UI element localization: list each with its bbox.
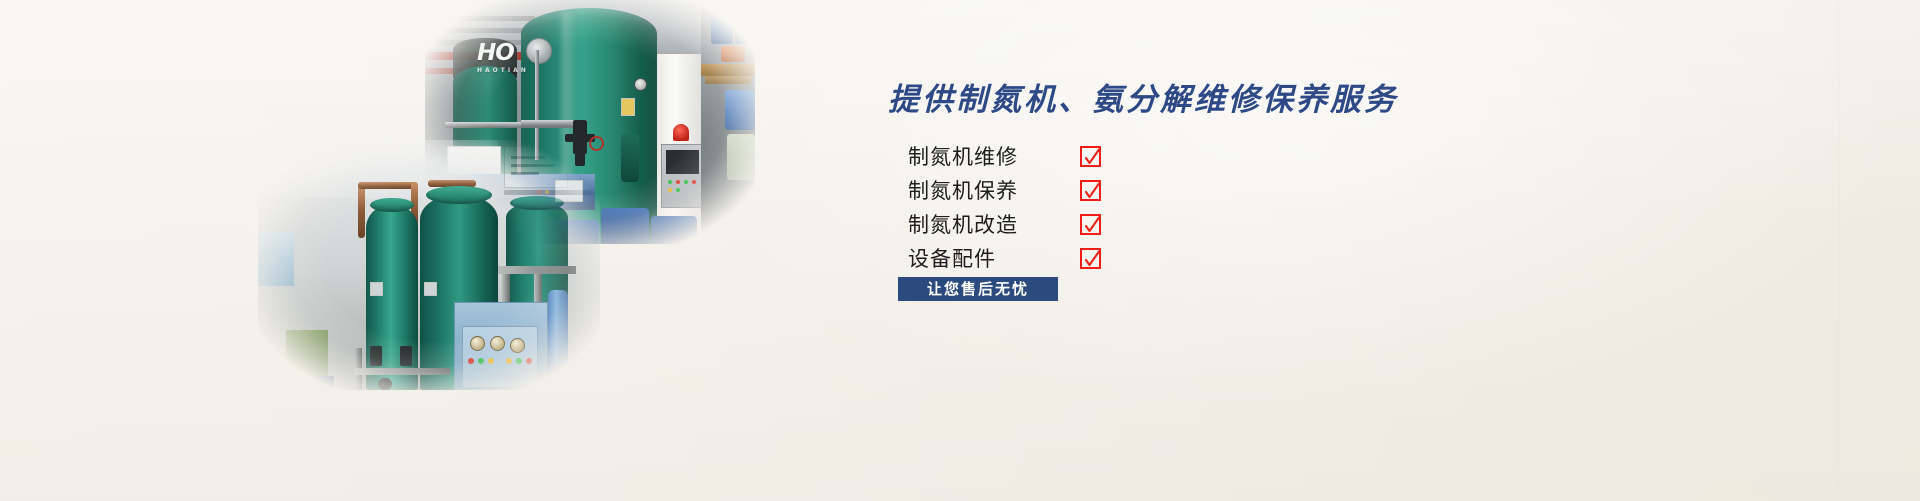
dryer-dial xyxy=(510,338,525,353)
dryer-dial xyxy=(470,336,485,351)
dryer-indicator xyxy=(488,358,494,364)
support-frame xyxy=(354,368,450,375)
service-item[interactable]: 制氮机保养 xyxy=(908,174,1138,206)
panel-led xyxy=(668,188,672,192)
dryer-indicator xyxy=(506,358,512,364)
cta-button-label: 让您售后无忧 xyxy=(927,282,1029,297)
return-pipe xyxy=(358,182,365,238)
service-checkbox[interactable] xyxy=(1080,180,1101,201)
tank-flange xyxy=(526,38,552,64)
background-seam xyxy=(1838,0,1839,501)
panel-led xyxy=(692,180,696,184)
service-item[interactable]: 设备配件 xyxy=(908,242,1138,274)
vessel-lid xyxy=(370,198,414,212)
tank-handle xyxy=(621,134,639,182)
vessel-lid xyxy=(510,196,564,210)
control-screen xyxy=(666,150,699,174)
ceiling-rafter xyxy=(425,16,535,21)
service-item[interactable]: 制氮机改造 xyxy=(908,208,1138,240)
orange-drum xyxy=(721,46,745,62)
cta-button[interactable]: 让您售后无忧 xyxy=(898,277,1058,301)
dryer-front-panel xyxy=(462,326,538,388)
service-label: 设备配件 xyxy=(908,243,1080,273)
service-label: 制氮机改造 xyxy=(908,209,1080,239)
bottom-valve xyxy=(400,346,412,366)
wall-placard xyxy=(504,146,568,188)
service-item[interactable]: 制氮机维修 xyxy=(908,140,1138,172)
check-mark-icon xyxy=(1083,148,1102,167)
service-checklist: 制氮机维修 制氮机保养 制氮机改造 设备 xyxy=(908,140,1138,276)
dryer-indicator xyxy=(526,358,532,364)
pressure-gauge-icon xyxy=(634,78,647,91)
panel-led xyxy=(684,180,688,184)
service-label: 制氮机维修 xyxy=(908,141,1080,171)
service-checkbox[interactable] xyxy=(1080,214,1101,235)
blue-filter-tube xyxy=(548,290,568,390)
navy-equipment-box xyxy=(276,376,334,390)
bottom-valve xyxy=(378,378,392,390)
service-label: 制氮机保养 xyxy=(908,175,1080,205)
panel-led xyxy=(676,180,680,184)
floor-blue-drum xyxy=(601,208,649,244)
return-pipe xyxy=(358,182,418,189)
blue-drum xyxy=(711,14,733,44)
bottom-valve xyxy=(370,346,382,366)
vessel-lid xyxy=(426,186,492,204)
check-mark-icon xyxy=(1083,250,1102,269)
photo-nitrogen-plant-bottom xyxy=(258,140,600,390)
vessel-nameplate xyxy=(370,282,383,296)
alarm-beacon-icon xyxy=(673,124,689,141)
panel-led xyxy=(668,180,672,184)
wooden-pallet xyxy=(701,64,755,76)
wooden-pallet xyxy=(705,76,751,84)
vessel-nameplate xyxy=(424,282,437,296)
manifold-pipe xyxy=(498,266,576,274)
blue-drum xyxy=(735,18,755,44)
floor-blue-drum xyxy=(651,216,697,244)
service-checkbox[interactable] xyxy=(1080,248,1101,269)
check-mark-icon xyxy=(1083,182,1102,201)
promo-banner: HO HAOTIAN xyxy=(0,0,1920,501)
shelf-rail xyxy=(504,190,600,195)
tank-brand-logo: HO HAOTIAN xyxy=(477,40,529,74)
red-rack-beam xyxy=(717,0,755,8)
service-checkbox[interactable] xyxy=(1080,146,1101,167)
ceiling-rafter xyxy=(431,28,527,33)
panel-led xyxy=(676,188,680,192)
dryer-indicator xyxy=(468,358,474,364)
check-mark-icon xyxy=(1083,216,1102,235)
pale-drum xyxy=(727,134,755,180)
dryer-indicator xyxy=(478,358,484,364)
blue-drum xyxy=(725,90,755,130)
tank-label-plate xyxy=(621,98,635,116)
dryer-dial xyxy=(490,336,505,351)
wall-window xyxy=(258,232,294,286)
dryer-indicator xyxy=(516,358,522,364)
banner-headline: 提供制氮机、氨分解维修保养服务 xyxy=(888,74,1398,119)
